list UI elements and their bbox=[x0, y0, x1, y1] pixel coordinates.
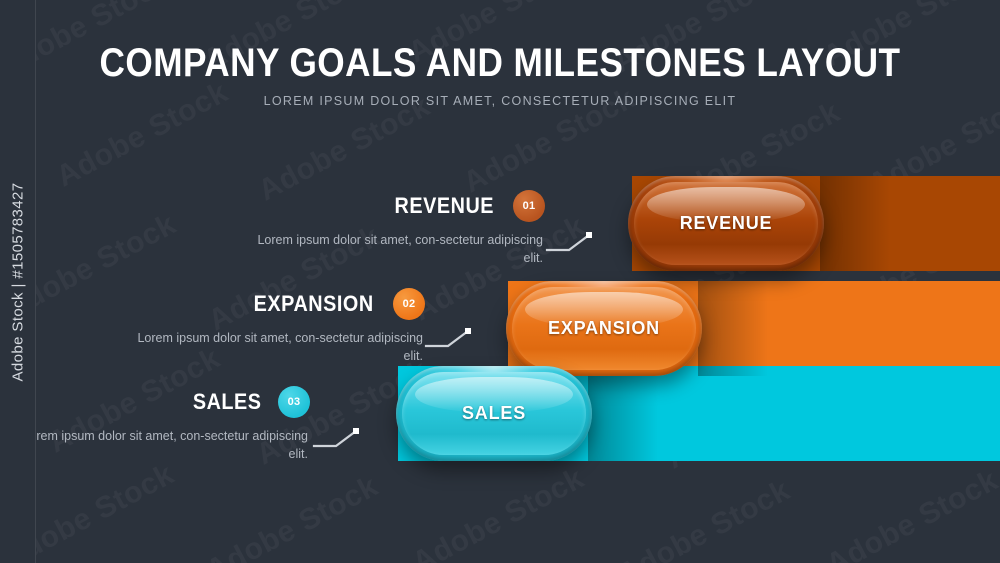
info-sales-description: Lorem ipsum dolor sit amet, con-sectetur… bbox=[10, 427, 310, 463]
info-expansion-head: EXPANSION 02 bbox=[125, 288, 425, 320]
stock-attribution-rail: Adobe Stock | #1505783427 bbox=[0, 0, 36, 563]
info-expansion-title: EXPANSION bbox=[253, 291, 373, 317]
info-sales: SALES 03 Lorem ipsum dolor sit amet, con… bbox=[10, 386, 310, 463]
trend-line-icon bbox=[424, 324, 480, 354]
info-sales-head: SALES 03 bbox=[10, 386, 310, 418]
infographic-canvas: Adobe Stock Adobe Stock Adobe Stock Adob… bbox=[0, 0, 1000, 563]
page-title: COMPANY GOALS AND MILESTONES LAYOUT bbox=[60, 42, 940, 84]
watermark-text: Adobe Stock bbox=[613, 474, 796, 563]
info-revenue: REVENUE 01 Lorem ipsum dolor sit amet, c… bbox=[245, 190, 545, 267]
trend-line-icon bbox=[312, 424, 368, 454]
pill-expansion-label: EXPANSION bbox=[548, 318, 660, 339]
page-subtitle: LOREM IPSUM DOLOR SIT AMET, CONSECTETUR … bbox=[0, 94, 1000, 108]
header: COMPANY GOALS AND MILESTONES LAYOUT LORE… bbox=[0, 42, 1000, 108]
info-sales-title: SALES bbox=[192, 389, 261, 415]
info-revenue-title: REVENUE bbox=[395, 193, 495, 219]
pill-revenue[interactable]: REVENUE bbox=[628, 176, 824, 271]
info-revenue-description: Lorem ipsum dolor sit amet, con-sectetur… bbox=[245, 231, 545, 267]
stock-attribution-text: Adobe Stock | #1505783427 bbox=[9, 182, 26, 381]
pill-sales-label: SALES bbox=[462, 403, 526, 424]
trend-line-icon bbox=[545, 228, 601, 258]
badge-revenue: 01 bbox=[513, 190, 545, 222]
watermark-text: Adobe Stock bbox=[407, 462, 590, 563]
pill-expansion[interactable]: EXPANSION bbox=[506, 281, 702, 376]
info-expansion-description: Lorem ipsum dolor sit amet, con-sectetur… bbox=[125, 329, 425, 365]
badge-sales: 03 bbox=[278, 386, 310, 418]
info-revenue-head: REVENUE 01 bbox=[245, 190, 545, 222]
watermark-text: Adobe Stock bbox=[821, 464, 1000, 563]
pill-sales[interactable]: SALES bbox=[396, 366, 592, 461]
pill-revenue-label: REVENUE bbox=[680, 213, 773, 234]
badge-expansion: 02 bbox=[393, 288, 425, 320]
info-expansion: EXPANSION 02 Lorem ipsum dolor sit amet,… bbox=[125, 288, 425, 365]
watermark-text: Adobe Stock bbox=[201, 470, 384, 563]
